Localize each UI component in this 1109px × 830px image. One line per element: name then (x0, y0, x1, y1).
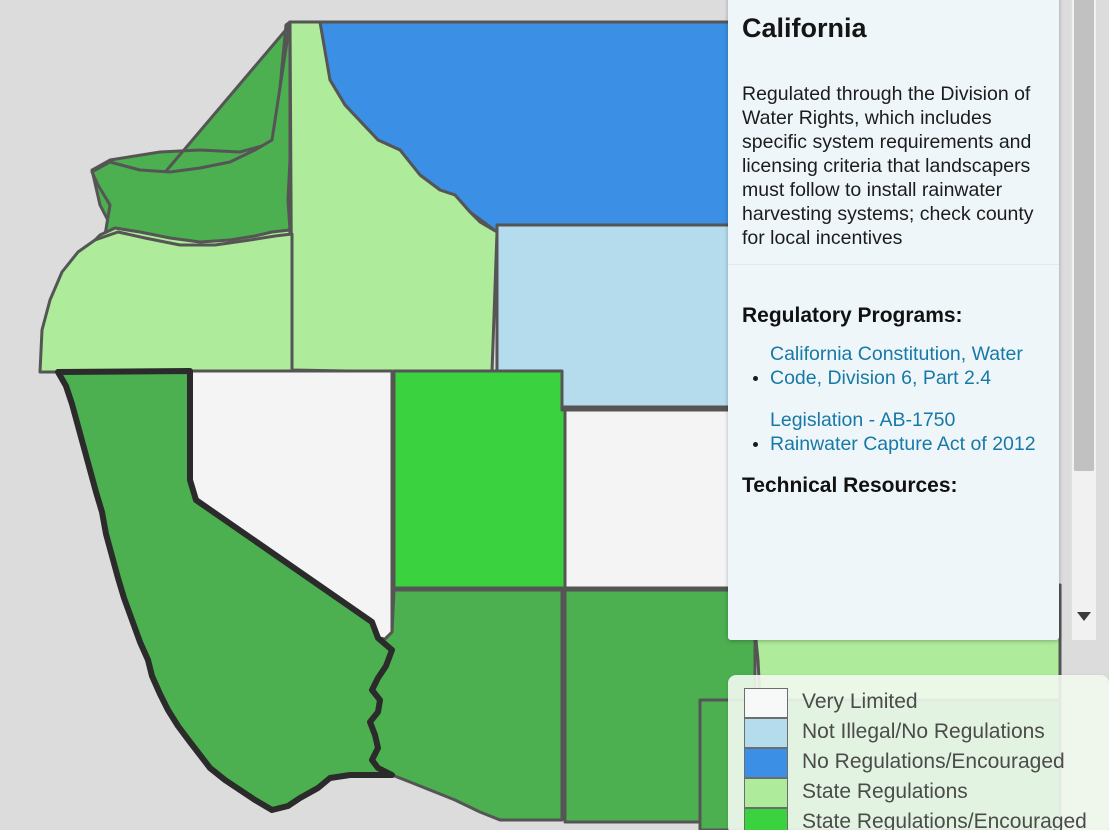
state-UT[interactable] (394, 371, 565, 588)
regulatory-programs-list: California Constitution, Water Code, Div… (742, 342, 1045, 456)
regulatory-program-link[interactable]: California Constitution, Water Code, Div… (770, 342, 1045, 390)
state-description: Regulated through the Division of Water … (742, 82, 1045, 250)
legend-label: Very Limited (802, 690, 918, 714)
state-name-heading: California (742, 14, 1045, 44)
legend-swatch (744, 718, 788, 748)
legend-label: State Regulations/Encouraged (802, 810, 1087, 830)
state-OR-body[interactable] (40, 232, 292, 372)
technical-resources-heading: Technical Resources: (742, 474, 1045, 498)
legend-label: No Regulations/Encouraged (802, 750, 1065, 774)
app-root: Regulations California Regulated through… (0, 0, 1109, 830)
legend-item[interactable]: Very Limited (744, 687, 1109, 717)
map-legend: Very Limited Not Illegal/No Regulations … (728, 675, 1109, 830)
legend-swatch (744, 688, 788, 718)
legend-item[interactable]: State Regulations/Encouraged (744, 807, 1109, 830)
regulatory-programs-heading: Regulatory Programs: (742, 304, 1045, 328)
legend-swatch (744, 748, 788, 778)
scrollbar-thumb[interactable] (1074, 0, 1094, 471)
legend-swatch (744, 778, 788, 808)
legend-item[interactable]: Not Illegal/No Regulations (744, 717, 1109, 747)
legend-swatch (744, 808, 788, 830)
state-CO[interactable] (565, 410, 755, 588)
panel-vertical-scrollbar[interactable] (1071, 0, 1096, 640)
state-info-panel: Regulations California Regulated through… (728, 0, 1059, 640)
panel-body: California Regulated through the Divisio… (728, 0, 1059, 640)
list-item: California Constitution, Water Code, Div… (770, 342, 1045, 390)
legend-label: Not Illegal/No Regulations (802, 720, 1045, 744)
legend-item[interactable]: State Regulations (744, 777, 1109, 807)
list-item: Legislation - AB-1750 Rainwater Capture … (770, 408, 1045, 456)
chevron-down-icon[interactable] (1072, 606, 1096, 630)
chevron-down-glyph (1077, 612, 1091, 621)
panel-divider (728, 264, 1059, 265)
legend-item[interactable]: No Regulations/Encouraged (744, 747, 1109, 777)
legend-label: State Regulations (802, 780, 968, 804)
regulatory-program-link[interactable]: Legislation - AB-1750 Rainwater Capture … (770, 408, 1045, 456)
